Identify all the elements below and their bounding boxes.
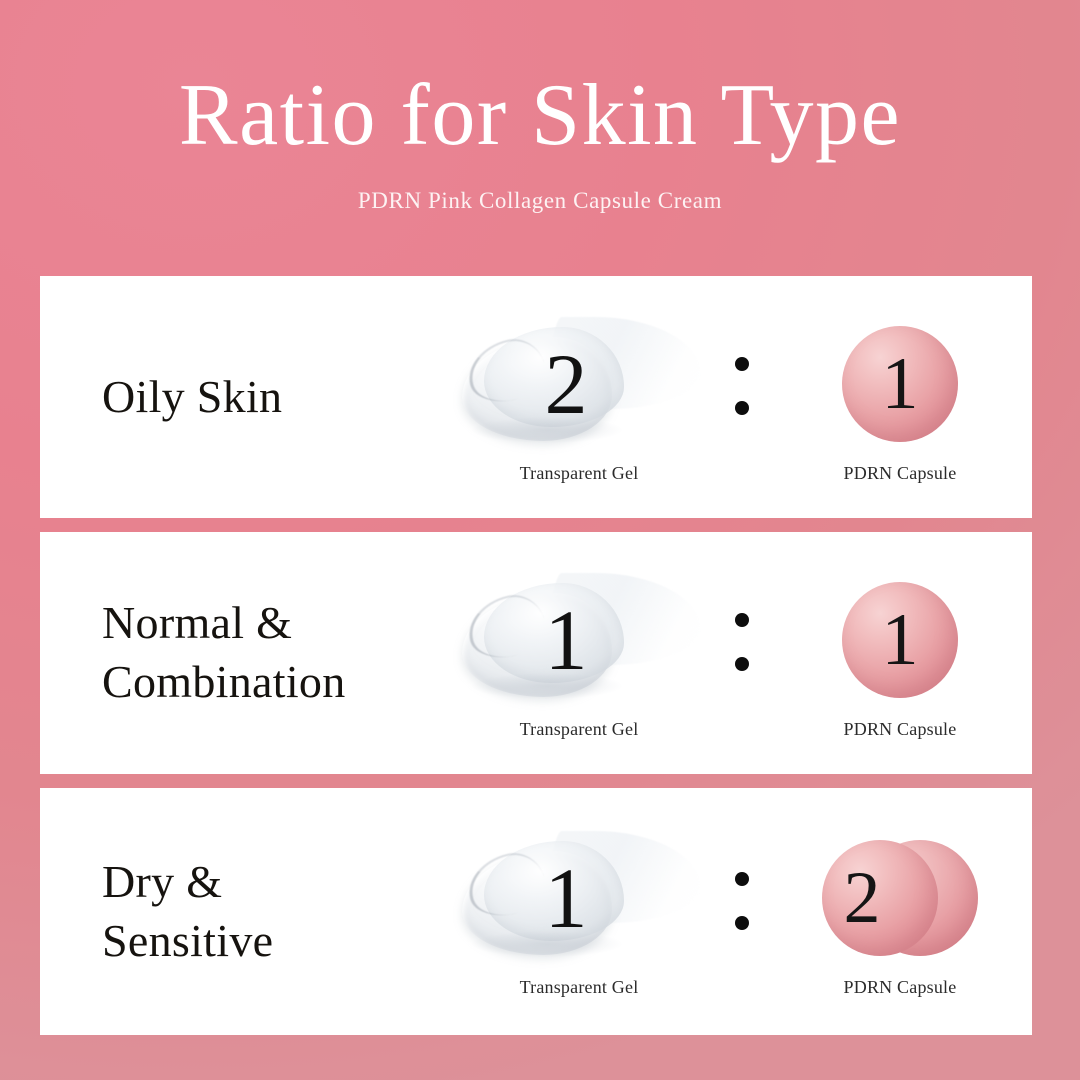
transparent-gel-icon: 1: [454, 825, 704, 971]
ratio-separator: [704, 613, 780, 671]
poster-header: Ratio for Skin Type PDRN Pink Collagen C…: [0, 0, 1080, 214]
skin-type-line: Sensitive: [102, 912, 460, 971]
gel-amount-value: 1: [454, 567, 704, 713]
ratio-row-dry-sensitive: Dry & Sensitive 1 Transparent Gel: [40, 788, 1032, 1035]
gel-amount-value: 2: [454, 311, 704, 457]
capsule-caption: PDRN Capsule: [844, 719, 957, 740]
colon-dot-bottom: [735, 401, 749, 415]
colon-dot-bottom: [735, 916, 749, 930]
ratio-card-list: Oily Skin 2 Transparent Gel: [40, 276, 1032, 1035]
pdrn-capsule-icon: 1: [800, 567, 1000, 713]
capsule-column: 1 PDRN Capsule: [780, 311, 1020, 484]
ratio-separator: [704, 357, 780, 415]
capsule-amount-value: 1: [800, 567, 1000, 713]
skin-type-line: Normal &: [102, 594, 460, 653]
gel-column: 1 Transparent Gel: [454, 567, 704, 740]
colon-dot-top: [735, 872, 749, 886]
gel-caption: Transparent Gel: [520, 463, 639, 484]
skin-type-line: Dry &: [102, 853, 460, 912]
product-subtitle: PDRN Pink Collagen Capsule Cream: [0, 160, 1080, 214]
gel-caption: Transparent Gel: [520, 719, 639, 740]
gel-amount-value: 1: [454, 825, 704, 971]
capsule-column: 1 PDRN Capsule: [780, 567, 1020, 740]
skin-type-line: Oily Skin: [102, 368, 460, 427]
ratio-separator: [704, 872, 780, 930]
page-title: Ratio for Skin Type: [0, 0, 1080, 160]
capsule-caption: PDRN Capsule: [844, 463, 957, 484]
pdrn-capsule-icon: 1: [800, 311, 1000, 457]
gel-column: 1 Transparent Gel: [454, 825, 704, 998]
colon-dot-bottom: [735, 657, 749, 671]
gel-column: 2 Transparent Gel: [454, 311, 704, 484]
capsule-amount-value: 1: [800, 311, 1000, 457]
ratio-row-normal-combination: Normal & Combination 1 Transparent Gel: [40, 532, 1032, 774]
gel-caption: Transparent Gel: [520, 977, 639, 998]
capsule-column: 2 PDRN Capsule: [780, 825, 1020, 998]
pdrn-capsule-icon: 2: [800, 825, 1000, 971]
colon-dot-top: [735, 357, 749, 371]
colon-dot-top: [735, 613, 749, 627]
skin-type-label: Oily Skin: [40, 368, 460, 427]
skin-type-label: Normal & Combination: [40, 594, 460, 712]
ratio-row-oily-skin: Oily Skin 2 Transparent Gel: [40, 276, 1032, 518]
skin-type-label: Dry & Sensitive: [40, 853, 460, 971]
infographic-poster: Ratio for Skin Type PDRN Pink Collagen C…: [0, 0, 1080, 1080]
transparent-gel-icon: 1: [454, 567, 704, 713]
capsule-amount-value: 2: [800, 825, 1000, 971]
skin-type-line: Combination: [102, 653, 460, 712]
transparent-gel-icon: 2: [454, 311, 704, 457]
capsule-caption: PDRN Capsule: [844, 977, 957, 998]
